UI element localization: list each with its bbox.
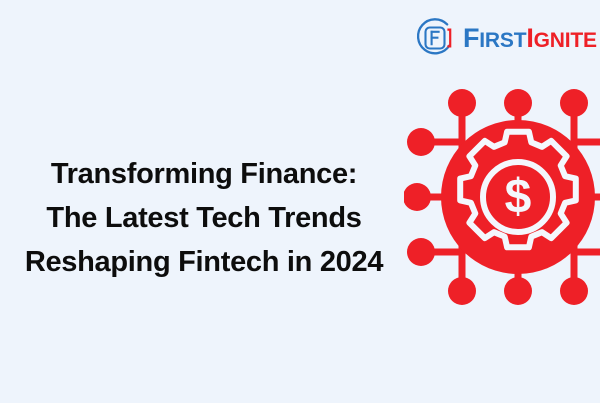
logo-wordmark: FIRSTIGNITE bbox=[463, 25, 597, 52]
logo-word-first: FIRST bbox=[463, 25, 526, 52]
node-left-middle bbox=[404, 183, 431, 211]
logo-word-ignite: IGNITE bbox=[526, 25, 596, 52]
headline-line-2: The Latest Tech Trends bbox=[0, 196, 416, 240]
blog-hero-banner: FIRSTIGNITE Transforming Finance: The La… bbox=[0, 0, 600, 403]
node-top-right bbox=[560, 89, 588, 117]
node-left-top bbox=[407, 128, 435, 156]
node-top-center bbox=[504, 89, 532, 117]
dollar-glyph: $ bbox=[505, 171, 532, 224]
node-left-bottom bbox=[407, 238, 435, 266]
firstignite-logo[interactable]: FIRSTIGNITE bbox=[414, 15, 597, 61]
fintech-gear-dollar-network-icon: $ bbox=[404, 86, 600, 308]
headline-line-3: Reshaping Fintech in 2024 bbox=[0, 240, 416, 284]
headline-line-1: Transforming Finance: bbox=[0, 152, 416, 196]
node-bottom-center bbox=[504, 277, 532, 305]
page-title: Transforming Finance: The Latest Tech Tr… bbox=[0, 152, 416, 284]
node-bottom-right bbox=[560, 277, 588, 305]
node-top-left bbox=[448, 89, 476, 117]
dollar-sign-icon: $ bbox=[505, 171, 532, 224]
node-bottom-left bbox=[448, 277, 476, 305]
firstignite-circle-f-icon bbox=[414, 17, 456, 59]
